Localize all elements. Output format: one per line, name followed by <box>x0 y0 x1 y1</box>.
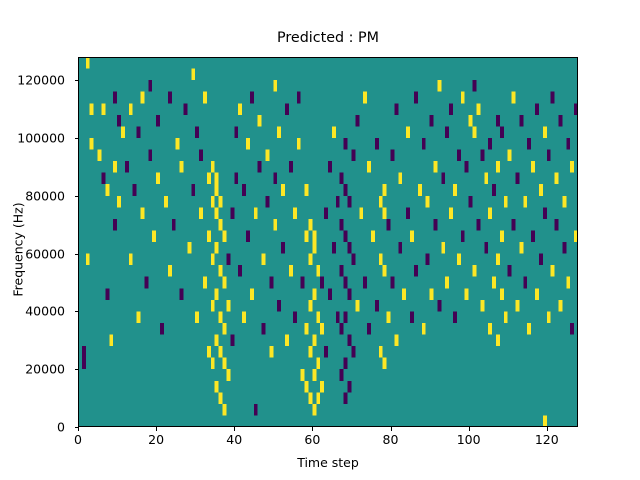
y-tick-mark <box>75 427 79 428</box>
y-tick-label: 20000 <box>25 362 65 377</box>
x-tick-label: 60 <box>304 432 320 447</box>
x-tick-label: 0 <box>74 432 82 447</box>
x-tick-label: 80 <box>383 432 399 447</box>
y-tick-mark <box>75 254 79 255</box>
heatmap-image <box>78 57 578 427</box>
y-tick-label: 0 <box>57 420 65 435</box>
y-tick-label: 80000 <box>25 188 65 203</box>
x-tick-mark <box>469 427 470 431</box>
y-tick-label: 120000 <box>17 73 65 88</box>
x-tick-mark <box>391 427 392 431</box>
page-title: Predicted : PM <box>78 30 578 46</box>
y-tick-mark <box>75 369 79 370</box>
y-tick-label: 60000 <box>25 246 65 261</box>
y-tick-mark <box>75 80 79 81</box>
x-tick-label: 100 <box>457 432 481 447</box>
y-tick-mark <box>75 311 79 312</box>
x-tick-mark <box>156 427 157 431</box>
matplotlib-figure: Predicted : PM 020406080100120 020000400… <box>0 0 640 480</box>
x-tick-label: 120 <box>535 432 559 447</box>
heatmap-plot-area <box>78 57 578 427</box>
x-axis-label: Time step <box>78 455 578 470</box>
x-tick-mark <box>234 427 235 431</box>
x-tick-label: 20 <box>148 432 164 447</box>
x-tick-mark <box>312 427 313 431</box>
y-tick-label: 100000 <box>17 130 65 145</box>
y-tick-label: 40000 <box>25 304 65 319</box>
y-tick-mark <box>75 138 79 139</box>
y-tick-mark <box>75 196 79 197</box>
x-tick-mark <box>547 427 548 431</box>
y-axis-label: Frequency (Hz) <box>11 150 26 350</box>
x-tick-label: 40 <box>226 432 242 447</box>
x-tick-mark <box>78 427 79 431</box>
